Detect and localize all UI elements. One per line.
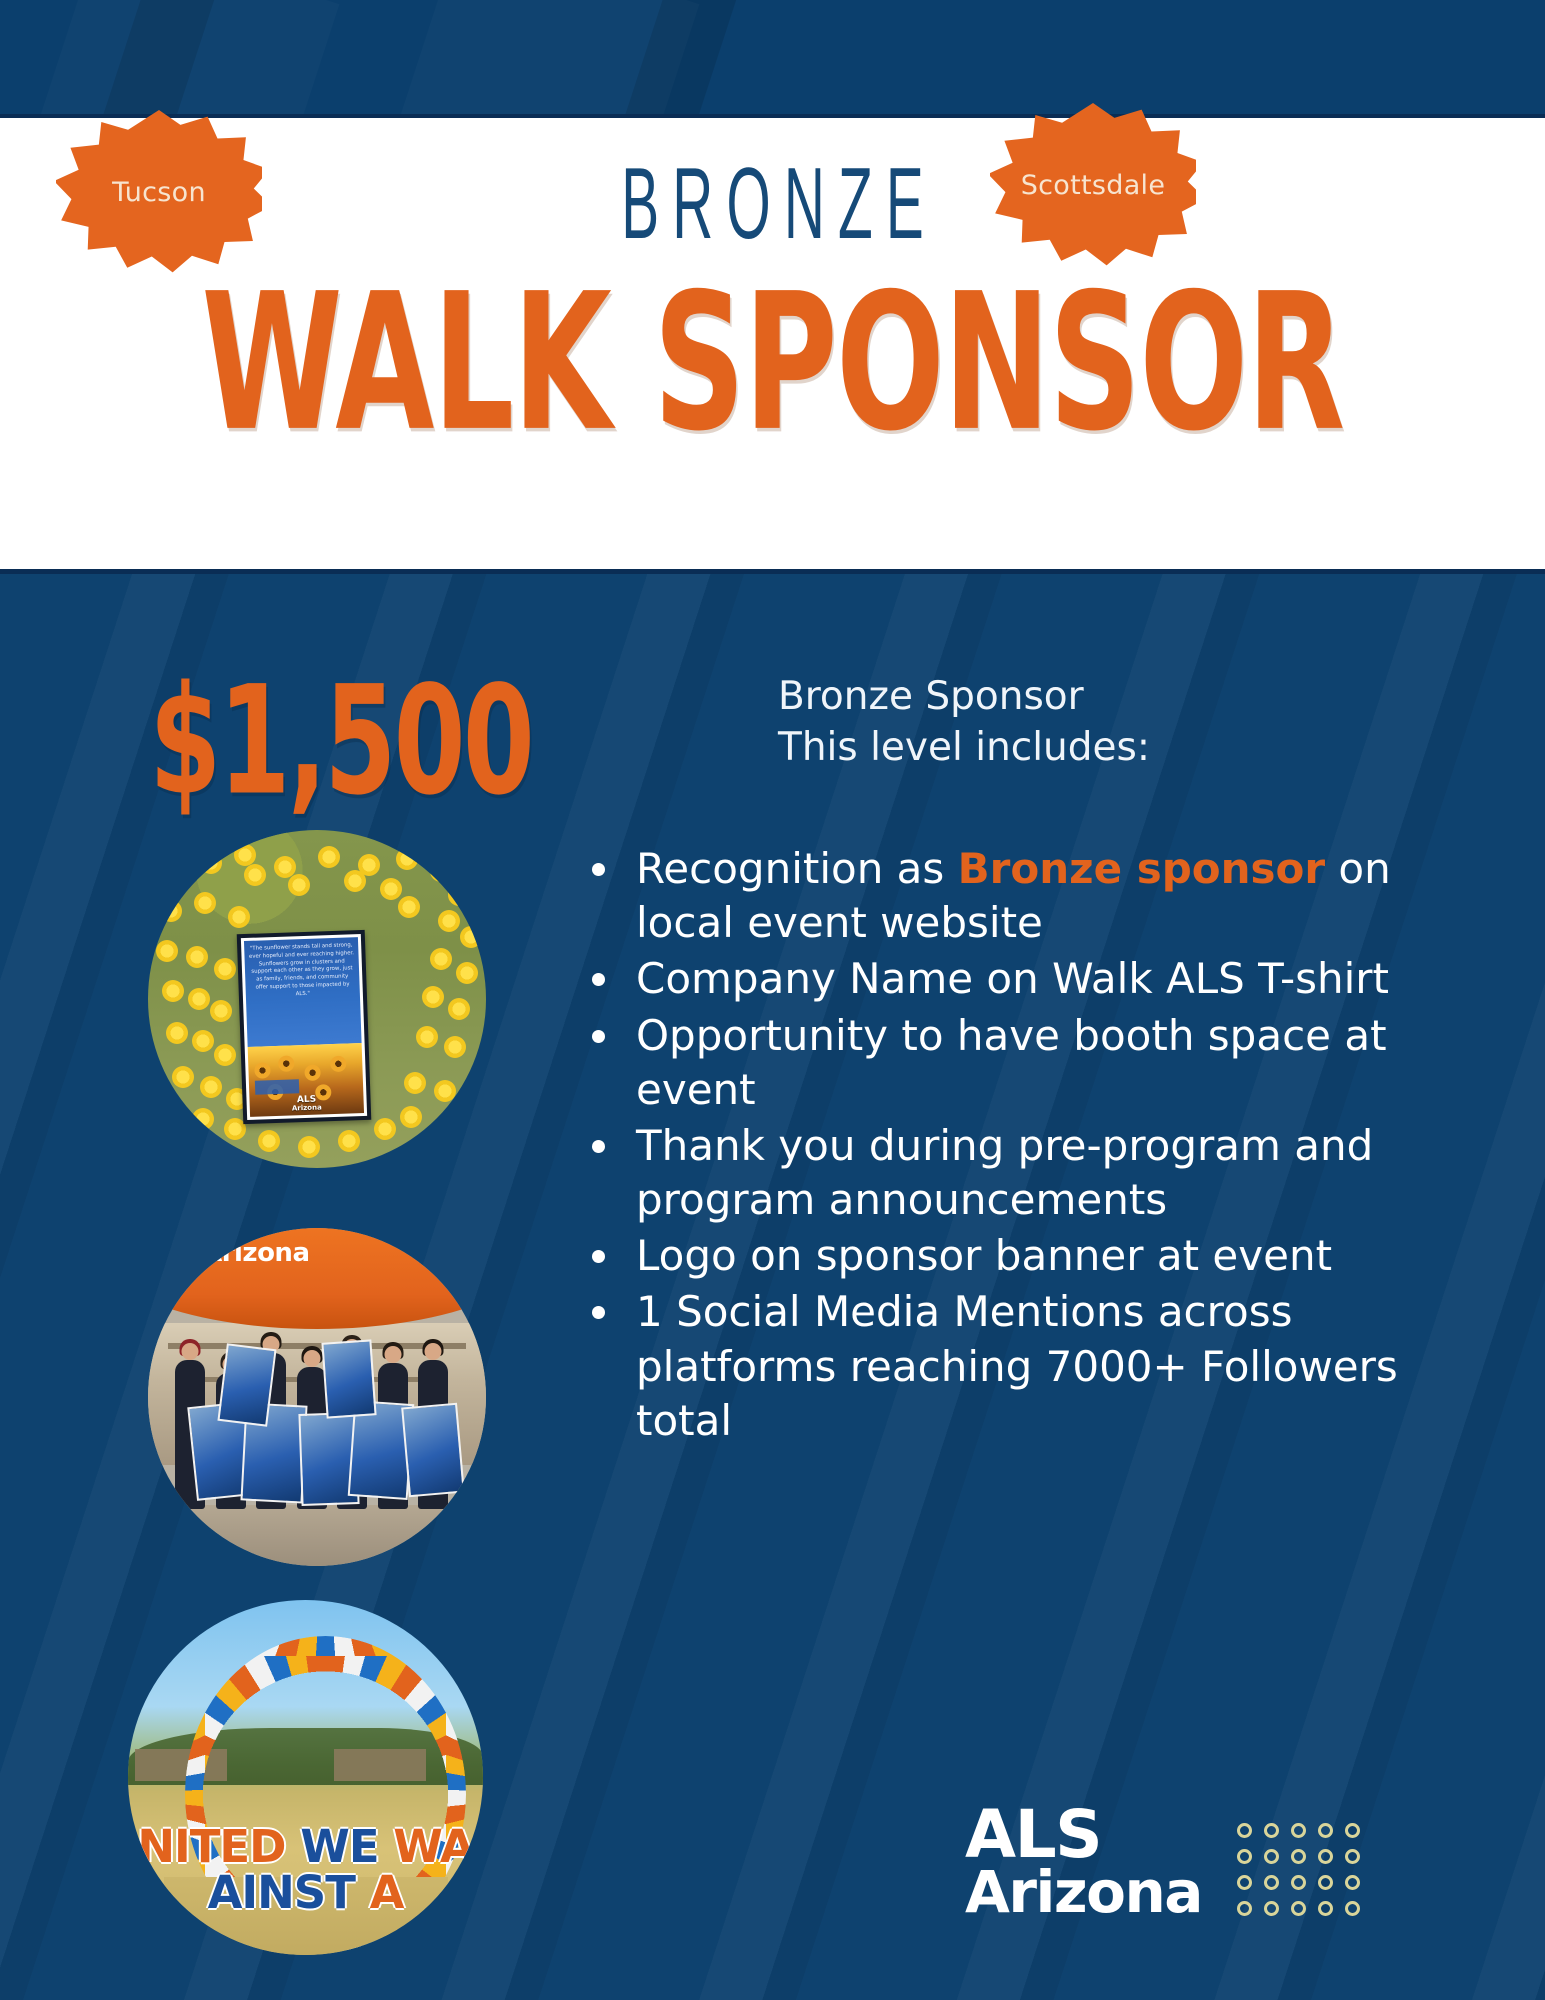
- logo-dot: [1345, 1901, 1360, 1916]
- flower: [214, 958, 236, 980]
- logo-dot: [1237, 1849, 1252, 1864]
- sign-lower: ALS Arizona: [248, 1043, 364, 1117]
- flower: [162, 980, 184, 1002]
- sign-inner: "The sunflower stands tall and strong, e…: [241, 934, 367, 1120]
- flower: [200, 852, 222, 874]
- logo-dot: [1237, 1901, 1252, 1916]
- flower: [422, 986, 444, 1008]
- benefits-list: Recognition as Bronze sponsor on local e…: [576, 842, 1431, 1450]
- sign-logo: ALS Arizona: [249, 1094, 363, 1114]
- group-scene: Arizona: [148, 1228, 486, 1566]
- benefit-text: Recognition as: [636, 844, 958, 893]
- flower: [448, 998, 470, 1020]
- logo-dot: [1264, 1823, 1279, 1838]
- flower: [166, 866, 188, 888]
- flower: [434, 1080, 456, 1102]
- overlay-text-e: A: [370, 1866, 404, 1919]
- flower: [400, 1106, 422, 1128]
- benefit-text: 1 Social Media Mentions across platforms…: [636, 1287, 1398, 1444]
- flower: [398, 896, 420, 918]
- flower: [374, 1118, 396, 1140]
- sign-quote-text: "The sunflower stands tall and strong, e…: [248, 942, 357, 1041]
- level-intro-line-1: Bronze Sponsor: [778, 672, 1418, 723]
- benefit-text: Logo on sponsor banner at event: [636, 1231, 1332, 1280]
- flower: [194, 892, 216, 914]
- flower: [404, 1072, 426, 1094]
- photo-sunflower-field-sign: "The sunflower stands tall and strong, e…: [148, 830, 486, 1168]
- head: [425, 1343, 442, 1360]
- sponsorship-flyer: Tucson Scottsdale BRONZE WALK SPONSOR $1…: [0, 0, 1545, 2000]
- photo-balloon-arch: NITED WE WA AINST A: [128, 1600, 483, 1955]
- benefit-item: Thank you during pre-program and program…: [576, 1119, 1431, 1227]
- benefit-item: Logo on sponsor banner at event: [576, 1229, 1431, 1283]
- city-badge-tucson-label: Tucson: [112, 179, 206, 206]
- arch-overlay-line-1: NITED WE WA: [128, 1820, 483, 1873]
- top-navy-band: [0, 0, 1545, 118]
- flower: [430, 860, 452, 882]
- head: [303, 1350, 320, 1367]
- flower: [214, 1044, 236, 1066]
- benefit-emphasis: Bronze sponsor: [958, 844, 1325, 893]
- logo-dot: [1345, 1875, 1360, 1890]
- head: [182, 1343, 199, 1360]
- flower: [430, 948, 452, 970]
- flower: [188, 988, 210, 1010]
- logo-dot-grid: [1237, 1823, 1372, 1927]
- memorial-sign: "The sunflower stands tall and strong, e…: [237, 930, 372, 1124]
- flower: [438, 910, 460, 932]
- overlay-text-d: AINST: [208, 1866, 370, 1919]
- logo-dot: [1318, 1875, 1333, 1890]
- flower: [234, 844, 256, 866]
- benefit-item: Recognition as Bronze sponsor on local e…: [576, 842, 1431, 950]
- flower: [298, 1136, 320, 1158]
- logo-dot: [1264, 1901, 1279, 1916]
- logo-dot: [1264, 1875, 1279, 1890]
- sign-logo-line2: Arizona: [250, 1103, 364, 1114]
- sunflower-icon: [278, 1055, 295, 1072]
- level-intro-line-2: This level includes:: [778, 723, 1418, 774]
- logo-dot: [1291, 1901, 1306, 1916]
- flower: [460, 926, 482, 948]
- logo-dot: [1318, 1849, 1333, 1864]
- flower: [318, 846, 340, 868]
- logo-dot: [1237, 1875, 1252, 1890]
- sunflower-icon: [330, 1055, 347, 1072]
- logo-dot: [1345, 1823, 1360, 1838]
- logo-wordmark: ALS Arizona: [965, 1805, 1202, 1919]
- logo-dot: [1264, 1849, 1279, 1864]
- tier-eyebrow: BRONZE: [263, 146, 1283, 263]
- flower: [160, 900, 182, 922]
- flower: [448, 884, 470, 906]
- logo-line-als: ALS: [965, 1805, 1202, 1866]
- flower: [338, 1130, 360, 1152]
- als-arizona-logo: ALS Arizona: [965, 1805, 1435, 1970]
- flower: [344, 870, 366, 892]
- event-tent: [148, 1228, 486, 1329]
- photo-walk-team-group: Arizona: [148, 1228, 486, 1566]
- flower: [186, 946, 208, 968]
- benefit-text: Thank you during pre-program and program…: [636, 1121, 1373, 1224]
- benefit-item: Opportunity to have booth space at event: [576, 1009, 1431, 1117]
- overlay-text-c: WA: [393, 1820, 473, 1873]
- flower: [228, 906, 250, 928]
- logo-dot: [1291, 1875, 1306, 1890]
- level-intro: Bronze Sponsor This level includes:: [778, 672, 1418, 773]
- flower: [288, 874, 310, 896]
- logo-dot: [1345, 1849, 1360, 1864]
- flower: [200, 1076, 222, 1098]
- flower: [258, 1130, 280, 1152]
- page-title: WALK SPONSOR: [155, 252, 1391, 473]
- tribute-placard: [321, 1340, 376, 1419]
- header-bottom-edge: [0, 569, 1545, 574]
- overlay-text-a: NITED: [137, 1820, 300, 1873]
- flower: [396, 848, 418, 870]
- tribute-placard: [401, 1403, 465, 1498]
- sunflower-icon: [254, 1062, 271, 1079]
- benefit-text: Opportunity to have booth space at event: [636, 1011, 1387, 1114]
- ground: [148, 1505, 486, 1566]
- logo-dot: [1318, 1901, 1333, 1916]
- benefit-text: Company Name on Walk ALS T-shirt: [636, 954, 1389, 1003]
- arch-overlay-line-2: AINST A: [128, 1866, 483, 1919]
- benefit-item: 1 Social Media Mentions across platforms…: [576, 1285, 1431, 1448]
- flower: [192, 1108, 214, 1130]
- flower: [166, 1022, 188, 1044]
- logo-line-arizona: Arizona: [965, 1866, 1202, 1919]
- flower: [380, 878, 402, 900]
- head: [384, 1346, 401, 1363]
- overlay-text-b: WE: [300, 1820, 393, 1873]
- flower: [192, 1030, 214, 1052]
- sunflower-icon: [304, 1064, 321, 1081]
- flower: [444, 1036, 466, 1058]
- flower: [172, 1066, 194, 1088]
- tent-label: Arizona: [202, 1238, 309, 1268]
- flower: [244, 864, 266, 886]
- logo-dot: [1291, 1849, 1306, 1864]
- price-amount: $1,500: [149, 655, 510, 829]
- sign-caption-chip: [255, 1079, 299, 1095]
- flower: [416, 1026, 438, 1048]
- flower: [210, 1000, 232, 1022]
- logo-dot: [1318, 1823, 1333, 1838]
- flower: [456, 962, 478, 984]
- benefit-item: Company Name on Walk ALS T-shirt: [576, 952, 1431, 1006]
- tribute-placard: [218, 1343, 277, 1427]
- arch-scene: NITED WE WA AINST A: [128, 1600, 483, 1955]
- sign-upper: "The sunflower stands tall and strong, e…: [244, 937, 362, 1047]
- flower: [156, 940, 178, 962]
- logo-dot: [1291, 1823, 1306, 1838]
- logo-dot: [1237, 1823, 1252, 1838]
